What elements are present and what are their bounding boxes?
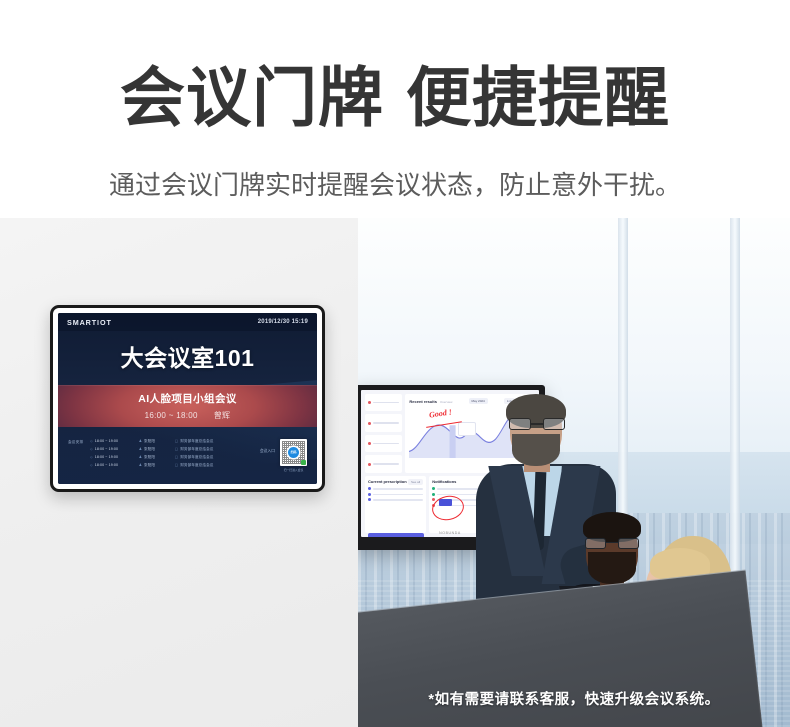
status-dot-icon bbox=[368, 442, 371, 445]
schedule-time: 18:00 ~ 19:00 bbox=[95, 453, 139, 461]
schedule-rows: ◇ 18:00 ~ 19:00 ♟张阳阳 ▢财务部年度总结会议 ◇ 18:00 … bbox=[90, 437, 231, 484]
doc-icon: ▢ bbox=[175, 439, 179, 443]
metric-chip bbox=[365, 455, 402, 472]
schedule-topic-text: 财务部年度总结会议 bbox=[180, 463, 213, 467]
glasses-lens-left bbox=[509, 418, 531, 430]
status-dot-icon bbox=[368, 401, 371, 404]
glasses-lens-left bbox=[585, 538, 606, 549]
qr-center-text: 扫码 bbox=[290, 451, 296, 454]
prescription-see-all[interactable]: See all bbox=[408, 479, 423, 485]
schedule-section: 会议安排 ◇ 18:00 ~ 19:00 ♟张阳阳 ▢财务部年度总结会议 ◇ 1… bbox=[58, 431, 317, 484]
person-icon: ♟ bbox=[139, 463, 142, 467]
current-meeting-host: 曾辉 bbox=[214, 411, 231, 420]
schedule-row: ◇ 18:00 ~ 19:00 ♟张阳阳 ▢财务部年度总结会议 bbox=[90, 461, 231, 469]
schedule-row: ◇ 18:00 ~ 19:00 ♟张阳阳 ▢财务部年度总结会议 bbox=[90, 453, 231, 461]
schedule-person-name: 张阳阳 bbox=[144, 439, 155, 443]
schedule-person: ♟张阳阳 bbox=[139, 437, 175, 445]
notifications-title: Notifications bbox=[432, 479, 456, 484]
glasses-bridge bbox=[606, 542, 618, 543]
diamond-icon: ◇ bbox=[90, 461, 93, 469]
chart-tooltip bbox=[458, 422, 476, 437]
header-section: 会议门牌便捷提醒 通过会议门牌实时提醒会议状态，防止意外干扰。 bbox=[0, 0, 790, 218]
schedule-topic: ▢财务部年度总结会议 bbox=[175, 437, 214, 445]
room-name: 大会议室101 bbox=[58, 339, 317, 373]
person-icon: ♟ bbox=[139, 439, 142, 443]
doc-icon: ▢ bbox=[175, 447, 179, 451]
footnote-text: *如有需要请联系客服，快速升级会议系统。 bbox=[358, 688, 790, 709]
presenter-beard bbox=[512, 434, 560, 466]
page-title: 会议门牌便捷提醒 bbox=[0, 62, 790, 134]
meeting-room-display-device: SMARTIOT 2019/12/30 15:19 大会议室101 AI人脸项目… bbox=[50, 305, 325, 492]
prescription-title: Current prescription bbox=[368, 479, 407, 484]
schedule-time: 18:00 ~ 19:00 bbox=[95, 445, 139, 453]
qr-label: 会议入口 bbox=[260, 439, 275, 454]
qr-section: 会议入口 扫码 扫一扫进入会议 bbox=[231, 437, 307, 484]
glasses-bridge bbox=[531, 423, 543, 425]
promo-page: 会议门牌便捷提醒 通过会议门牌实时提醒会议状态，防止意外干扰。 SMARTIOT… bbox=[0, 0, 790, 727]
schedule-time: 18:00 ~ 19:00 bbox=[95, 461, 139, 469]
page-subtitle: 通过会议门牌实时提醒会议状态，防止意外干扰。 bbox=[0, 168, 790, 202]
schedule-list-wrap: 会议安排 ◇ 18:00 ~ 19:00 ♟张阳阳 ▢财务部年度总结会议 ◇ 1… bbox=[68, 437, 231, 484]
schedule-topic-text: 财务部年度总结会议 bbox=[180, 439, 213, 443]
page-title-part1: 会议门牌 bbox=[120, 61, 384, 134]
qr-center-badge: 扫码 bbox=[288, 447, 299, 458]
bullet-icon bbox=[432, 493, 435, 496]
card-title: Recent results bbox=[409, 399, 437, 404]
item-bar bbox=[373, 488, 423, 490]
schedule-person-name: 张阳阳 bbox=[144, 463, 155, 467]
screen-top-bar: SMARTIOT 2019/12/30 15:19 bbox=[58, 313, 317, 331]
schedule-topic: ▢财务部年度总结会议 bbox=[175, 445, 214, 453]
chip-bar bbox=[373, 443, 399, 445]
prescription-card: Current prescription See all bbox=[365, 476, 426, 533]
prescription-header: Current prescription See all bbox=[368, 479, 423, 485]
bullet-icon bbox=[368, 498, 371, 501]
schedule-label: 会议安排 bbox=[68, 437, 90, 484]
prescription-item bbox=[368, 498, 423, 501]
chip-bar bbox=[373, 422, 399, 424]
schedule-person: ♟张阳阳 bbox=[139, 445, 175, 453]
metric-chip bbox=[365, 414, 402, 431]
brand-logo: SMARTIOT bbox=[67, 318, 112, 327]
person-icon: ♟ bbox=[139, 447, 142, 451]
doc-icon: ▢ bbox=[175, 455, 179, 459]
diamond-icon: ◇ bbox=[90, 437, 93, 445]
current-meeting-banner: AI人脸项目小组会议 16:00 ~ 18:00曾辉 bbox=[58, 385, 317, 427]
metric-chip bbox=[365, 394, 402, 411]
bullet-icon bbox=[432, 487, 435, 490]
item-bar bbox=[373, 499, 423, 501]
schedule-person: ♟张阳阳 bbox=[139, 461, 175, 469]
prescription-item bbox=[368, 487, 423, 490]
schedule-time: 18:00 ~ 19:00 bbox=[95, 437, 139, 445]
item-bar bbox=[373, 494, 423, 496]
doc-icon: ▢ bbox=[175, 463, 179, 467]
metric-chip bbox=[365, 435, 402, 452]
schedule-person-name: 张阳阳 bbox=[144, 447, 155, 451]
schedule-topic-text: 财务部年度总结会议 bbox=[180, 447, 213, 451]
schedule-person-name: 张阳阳 bbox=[144, 455, 155, 459]
current-meeting-meta: 16:00 ~ 18:00曾辉 bbox=[145, 410, 231, 421]
status-dot-icon bbox=[368, 422, 371, 425]
schedule-person: ♟张阳阳 bbox=[139, 453, 175, 461]
prescription-item bbox=[368, 493, 423, 496]
diamond-icon: ◇ bbox=[90, 453, 93, 461]
card-subtitle: Overview bbox=[440, 400, 453, 404]
device-screen: SMARTIOT 2019/12/30 15:19 大会议室101 AI人脸项目… bbox=[58, 313, 317, 484]
page-title-part2: 便捷提醒 bbox=[406, 61, 670, 134]
schedule-topic: ▢财务部年度总结会议 bbox=[175, 461, 214, 469]
current-meeting-time: 16:00 ~ 18:00 bbox=[145, 411, 198, 420]
clock-display: 2019/12/30 15:19 bbox=[258, 319, 308, 325]
status-dot-icon bbox=[368, 463, 371, 466]
qr-corner-badge bbox=[301, 460, 306, 465]
bullet-icon bbox=[368, 487, 371, 490]
bullet-icon bbox=[368, 493, 371, 496]
presenter-glasses-icon bbox=[509, 418, 565, 430]
person-icon: ♟ bbox=[139, 455, 142, 459]
schedule-topic: ▢财务部年度总结会议 bbox=[175, 453, 214, 461]
whiteboard-side-chips bbox=[365, 394, 402, 473]
whiteboard-brand: NOBUNDA bbox=[439, 531, 461, 535]
qr-code[interactable]: 扫码 扫一扫进入会议 bbox=[280, 439, 307, 466]
schedule-row: ◇ 18:00 ~ 19:00 ♟张阳阳 ▢财务部年度总结会议 bbox=[90, 437, 231, 445]
chart-highlight-bar bbox=[450, 425, 456, 458]
meeting-room-photo: Recent results Overview May 2024 Edit Sh… bbox=[358, 218, 790, 727]
current-meeting-title: AI人脸项目小组会议 bbox=[138, 391, 237, 406]
alert-banner bbox=[368, 533, 424, 537]
card-title-wrap: Recent results Overview bbox=[409, 399, 452, 404]
chip-bar bbox=[373, 463, 399, 465]
diamond-icon: ◇ bbox=[90, 445, 93, 453]
chip-bar bbox=[373, 402, 399, 404]
glasses-lens-right bbox=[543, 418, 565, 430]
schedule-topic-text: 财务部年度总结会议 bbox=[180, 455, 213, 459]
schedule-row: ◇ 18:00 ~ 19:00 ♟张阳阳 ▢财务部年度总结会议 bbox=[90, 445, 231, 453]
qr-caption: 扫一扫进入会议 bbox=[280, 468, 307, 472]
